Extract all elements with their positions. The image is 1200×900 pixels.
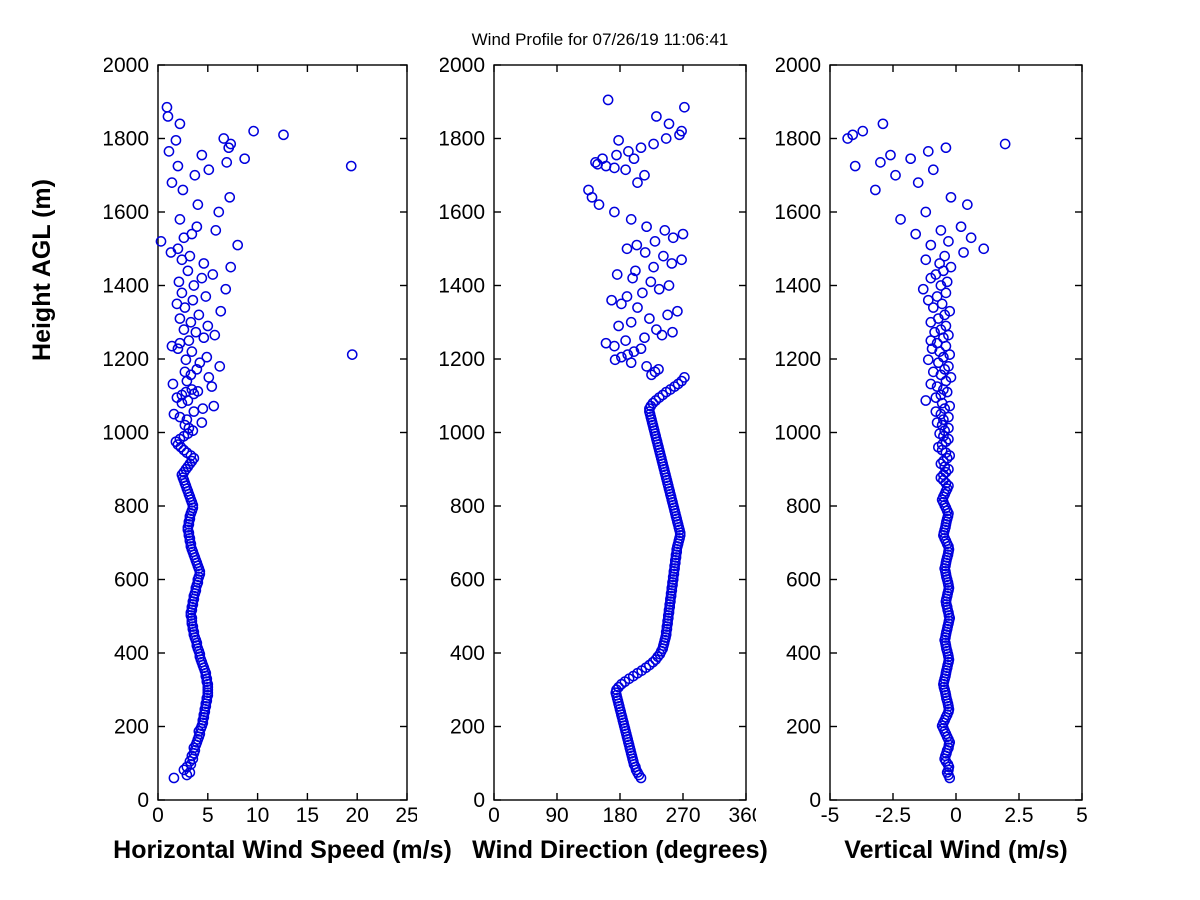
y-tick-label: 400 bbox=[114, 642, 149, 665]
panel-horizontal-wind-speed: 0200400600800100012001400160018002000051… bbox=[104, 57, 417, 830]
data-point bbox=[911, 229, 920, 238]
data-point bbox=[640, 171, 649, 180]
figure-title: Wind Profile for 07/26/19 11:06:41 bbox=[0, 30, 1200, 50]
data-point bbox=[199, 259, 208, 268]
data-point bbox=[192, 222, 201, 231]
data-point bbox=[201, 292, 210, 301]
data-point bbox=[924, 147, 933, 156]
x-tick-label: -2.5 bbox=[875, 804, 911, 827]
y-tick-label: 1600 bbox=[440, 201, 485, 224]
data-point bbox=[621, 336, 630, 345]
data-point bbox=[197, 418, 206, 427]
y-tick-label: 1800 bbox=[776, 128, 821, 151]
data-point bbox=[979, 244, 988, 253]
data-point bbox=[222, 158, 231, 167]
data-point bbox=[891, 171, 900, 180]
data-point bbox=[226, 263, 235, 272]
data-point bbox=[944, 237, 953, 246]
data-point bbox=[652, 325, 661, 334]
data-point bbox=[164, 147, 173, 156]
y-tick-label: 0 bbox=[473, 789, 485, 812]
data-point bbox=[225, 193, 234, 202]
data-point bbox=[649, 139, 658, 148]
y-tick-label: 2000 bbox=[440, 57, 485, 77]
x-tick-label: 15 bbox=[296, 804, 319, 827]
data-point bbox=[197, 150, 206, 159]
data-point bbox=[203, 321, 212, 330]
data-point bbox=[210, 331, 219, 340]
data-point bbox=[642, 362, 651, 371]
data-point bbox=[659, 252, 668, 261]
data-point bbox=[175, 215, 184, 224]
plot-area: 0200400600800100012001400160018002000090… bbox=[440, 57, 756, 830]
data-point bbox=[655, 285, 664, 294]
data-point bbox=[607, 296, 616, 305]
data-point bbox=[610, 163, 619, 172]
x-tick-label: 0 bbox=[152, 804, 164, 827]
data-point bbox=[189, 281, 198, 290]
data-point bbox=[169, 773, 178, 782]
data-point bbox=[185, 252, 194, 261]
data-point bbox=[924, 296, 933, 305]
y-tick-label: 1200 bbox=[776, 348, 821, 371]
data-point bbox=[194, 310, 203, 319]
data-point bbox=[208, 270, 217, 279]
data-point bbox=[175, 339, 184, 348]
data-point bbox=[172, 299, 181, 308]
data-point bbox=[941, 143, 950, 152]
x-axis-label-vertical-wind: Vertical Wind (m/s) bbox=[656, 836, 1200, 865]
data-point bbox=[215, 362, 224, 371]
data-series bbox=[156, 103, 356, 783]
data-point bbox=[678, 229, 687, 238]
plot-area: 0200400600800100012001400160018002000-5-… bbox=[776, 57, 1092, 830]
data-point bbox=[650, 237, 659, 246]
data-point bbox=[191, 328, 200, 337]
plot-area: 0200400600800100012001400160018002000051… bbox=[104, 57, 417, 830]
data-point bbox=[919, 285, 928, 294]
data-point bbox=[660, 226, 669, 235]
data-point bbox=[175, 314, 184, 323]
data-point bbox=[190, 171, 199, 180]
data-point bbox=[198, 404, 207, 413]
data-point bbox=[926, 240, 935, 249]
data-point bbox=[186, 318, 195, 327]
data-point bbox=[657, 331, 666, 340]
data-point bbox=[168, 379, 177, 388]
data-point bbox=[668, 328, 677, 337]
data-point bbox=[906, 154, 915, 163]
data-point bbox=[167, 178, 176, 187]
y-tick-label: 800 bbox=[114, 495, 149, 518]
x-tick-label: 5 bbox=[1076, 804, 1088, 827]
data-point bbox=[175, 119, 184, 128]
panel-wind-direction: 0200400600800100012001400160018002000090… bbox=[440, 57, 756, 830]
y-tick-label: 1200 bbox=[104, 348, 149, 371]
data-point bbox=[933, 292, 942, 301]
data-point bbox=[667, 259, 676, 268]
data-point bbox=[669, 233, 678, 242]
x-tick-label: 2.5 bbox=[1004, 804, 1033, 827]
panel-vertical-wind: 0200400600800100012001400160018002000-5-… bbox=[776, 57, 1092, 830]
data-point bbox=[202, 353, 211, 362]
y-tick-label: 1000 bbox=[440, 422, 485, 445]
wind-profile-figure: Wind Profile for 07/26/19 11:06:41 Heigh… bbox=[0, 0, 1200, 900]
data-point bbox=[221, 285, 230, 294]
x-tick-label: 270 bbox=[665, 804, 700, 827]
y-tick-label: 1600 bbox=[776, 201, 821, 224]
data-point bbox=[622, 244, 631, 253]
y-tick-label: 600 bbox=[450, 569, 485, 592]
data-point bbox=[921, 396, 930, 405]
data-point bbox=[178, 185, 187, 194]
data-point bbox=[641, 248, 650, 257]
y-tick-label: 1800 bbox=[104, 128, 149, 151]
x-tick-label: 0 bbox=[950, 804, 962, 827]
data-point bbox=[171, 136, 180, 145]
data-point bbox=[632, 240, 641, 249]
x-tick-label: 360 bbox=[728, 804, 756, 827]
data-series bbox=[843, 119, 1010, 782]
data-point bbox=[627, 215, 636, 224]
data-point bbox=[204, 165, 213, 174]
y-tick-label: 2000 bbox=[104, 57, 149, 77]
data-point bbox=[614, 136, 623, 145]
data-point bbox=[593, 160, 602, 169]
data-point bbox=[1001, 139, 1010, 148]
data-point bbox=[876, 158, 885, 167]
data-point bbox=[594, 200, 603, 209]
data-point bbox=[663, 310, 672, 319]
data-point bbox=[934, 358, 943, 367]
data-point bbox=[871, 185, 880, 194]
data-point bbox=[921, 207, 930, 216]
y-tick-label: 1800 bbox=[440, 128, 485, 151]
data-point bbox=[896, 215, 905, 224]
y-tick-label: 200 bbox=[450, 716, 485, 739]
data-point bbox=[173, 161, 182, 170]
y-tick-label: 1000 bbox=[104, 422, 149, 445]
data-point bbox=[921, 255, 930, 264]
axes-box bbox=[830, 65, 1082, 800]
data-point bbox=[174, 277, 183, 286]
data-point bbox=[649, 263, 658, 272]
y-tick-label: 600 bbox=[786, 569, 821, 592]
data-point bbox=[216, 307, 225, 316]
x-tick-label: -5 bbox=[821, 804, 840, 827]
data-point bbox=[179, 325, 188, 334]
data-point bbox=[936, 226, 945, 235]
data-point bbox=[633, 303, 642, 312]
data-point bbox=[967, 233, 976, 242]
data-point bbox=[621, 165, 630, 174]
data-point bbox=[946, 193, 955, 202]
data-point bbox=[645, 314, 654, 323]
data-point bbox=[956, 222, 965, 231]
y-tick-label: 1400 bbox=[104, 275, 149, 298]
data-point bbox=[209, 401, 218, 410]
data-point bbox=[188, 296, 197, 305]
data-point bbox=[173, 344, 182, 353]
data-point bbox=[193, 200, 202, 209]
data-point bbox=[348, 350, 357, 359]
data-point bbox=[664, 281, 673, 290]
data-point bbox=[184, 336, 193, 345]
data-point bbox=[240, 154, 249, 163]
data-point bbox=[944, 481, 953, 490]
data-point bbox=[177, 288, 186, 297]
y-tick-label: 200 bbox=[786, 716, 821, 739]
data-point bbox=[584, 185, 593, 194]
data-point bbox=[249, 127, 258, 136]
data-point bbox=[627, 318, 636, 327]
data-point bbox=[633, 178, 642, 187]
y-tick-label: 800 bbox=[786, 495, 821, 518]
data-point bbox=[946, 263, 955, 272]
y-tick-label: 1400 bbox=[776, 275, 821, 298]
data-point bbox=[214, 207, 223, 216]
x-tick-label: 0 bbox=[488, 804, 500, 827]
data-point bbox=[613, 270, 622, 279]
axes-box bbox=[158, 65, 407, 800]
y-tick-label: 1000 bbox=[776, 422, 821, 445]
data-point bbox=[886, 150, 895, 159]
y-tick-label: 600 bbox=[114, 569, 149, 592]
data-point bbox=[673, 307, 682, 316]
data-point bbox=[878, 119, 887, 128]
data-point bbox=[636, 143, 645, 152]
data-point bbox=[640, 333, 649, 342]
x-tick-label: 10 bbox=[246, 804, 269, 827]
data-point bbox=[652, 112, 661, 121]
data-point bbox=[924, 355, 933, 364]
data-point bbox=[940, 252, 949, 261]
data-point bbox=[680, 103, 689, 112]
data-point bbox=[642, 222, 651, 231]
data-point bbox=[219, 134, 228, 143]
y-tick-label: 0 bbox=[137, 789, 149, 812]
data-point bbox=[279, 130, 288, 139]
y-tick-label: 1200 bbox=[440, 348, 485, 371]
data-point bbox=[189, 407, 198, 416]
x-tick-label: 90 bbox=[545, 804, 568, 827]
data-point bbox=[204, 373, 213, 382]
data-point bbox=[197, 274, 206, 283]
data-point bbox=[233, 240, 242, 249]
data-point bbox=[604, 95, 613, 104]
x-tick-label: 25 bbox=[395, 804, 417, 827]
data-point bbox=[646, 277, 655, 286]
data-point bbox=[858, 127, 867, 136]
y-tick-label: 1600 bbox=[104, 201, 149, 224]
y-tick-label: 2000 bbox=[776, 57, 821, 77]
y-tick-label: 0 bbox=[809, 789, 821, 812]
data-point bbox=[959, 248, 968, 257]
data-series bbox=[584, 95, 689, 782]
y-tick-label: 400 bbox=[786, 642, 821, 665]
data-point bbox=[664, 119, 673, 128]
data-point bbox=[211, 226, 220, 235]
data-point bbox=[638, 288, 647, 297]
x-tick-label: 180 bbox=[602, 804, 637, 827]
data-point bbox=[162, 103, 171, 112]
y-tick-label: 200 bbox=[114, 716, 149, 739]
data-point bbox=[929, 165, 938, 174]
x-tick-label: 5 bbox=[202, 804, 214, 827]
data-point bbox=[851, 161, 860, 170]
x-tick-label: 20 bbox=[346, 804, 369, 827]
data-point bbox=[601, 339, 610, 348]
data-point bbox=[347, 161, 356, 170]
data-point bbox=[181, 355, 190, 364]
data-point bbox=[677, 255, 686, 264]
data-point bbox=[629, 154, 638, 163]
data-point bbox=[187, 347, 196, 356]
data-point bbox=[914, 178, 923, 187]
data-point bbox=[622, 292, 631, 301]
data-point bbox=[207, 382, 216, 391]
data-point bbox=[610, 207, 619, 216]
y-tick-label: 1400 bbox=[440, 275, 485, 298]
data-point bbox=[163, 112, 172, 121]
data-point bbox=[612, 150, 621, 159]
y-tick-label: 400 bbox=[450, 642, 485, 665]
data-point bbox=[183, 266, 192, 275]
data-point bbox=[662, 134, 671, 143]
data-point bbox=[963, 200, 972, 209]
y-tick-label: 800 bbox=[450, 495, 485, 518]
data-point bbox=[614, 321, 623, 330]
y-axis-label: Height AGL (m) bbox=[28, 110, 57, 430]
